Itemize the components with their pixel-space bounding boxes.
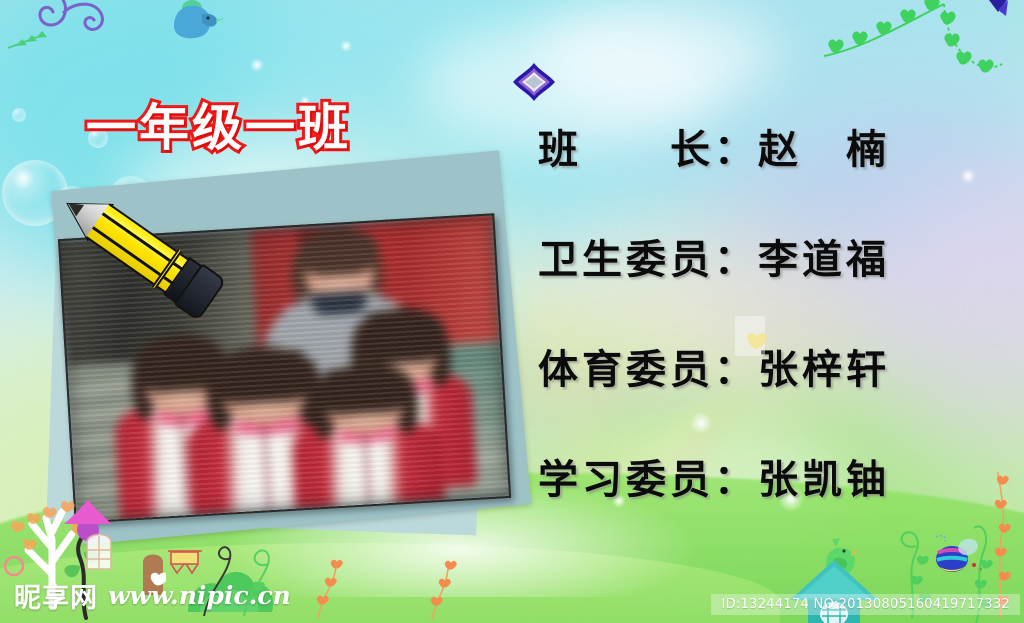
roster-row-hygiene-officer: 卫生委员：李道福 — [538, 240, 1008, 280]
orange-heart-vine-icon-2 — [418, 545, 478, 621]
poster-canvas: 一年级一班 班 长：赵 楠 卫生委员：李道福 体育委员：张梓轩 学习委员：张凯铀 — [0, 0, 1024, 623]
green-leaf-sprig-icon — [6, 26, 66, 60]
watermark-id: ID:13244174 NO:20130805160419717332 — [711, 594, 1020, 615]
watermark-left: 昵享网 www.nipic.cn — [14, 576, 291, 615]
page-title: 一年级一班 — [86, 88, 351, 160]
roster-row-sports-officer: 体育委员：张梓轩 — [538, 350, 1008, 390]
roster-row-class-monitor: 班 长：赵 楠 — [538, 130, 1008, 170]
roster-row-study-officer: 学习委员：张凯铀 — [538, 460, 1008, 500]
watermark-site-url: www.nipic.cn — [108, 581, 291, 610]
watermark-site-name: 昵享网 — [14, 576, 98, 615]
orange-heart-vine-icon — [300, 540, 370, 620]
navy-arrow-icon — [984, 0, 1018, 30]
window-icon — [84, 528, 114, 570]
class-officer-list: 班 长：赵 楠 卫生委员：李道福 体育委员：张梓轩 学习委员：张凯铀 — [538, 130, 1008, 500]
blue-bird-icon — [168, 0, 240, 52]
heart-tag-icon — [733, 312, 767, 358]
diamond-ornament-icon — [512, 62, 556, 102]
